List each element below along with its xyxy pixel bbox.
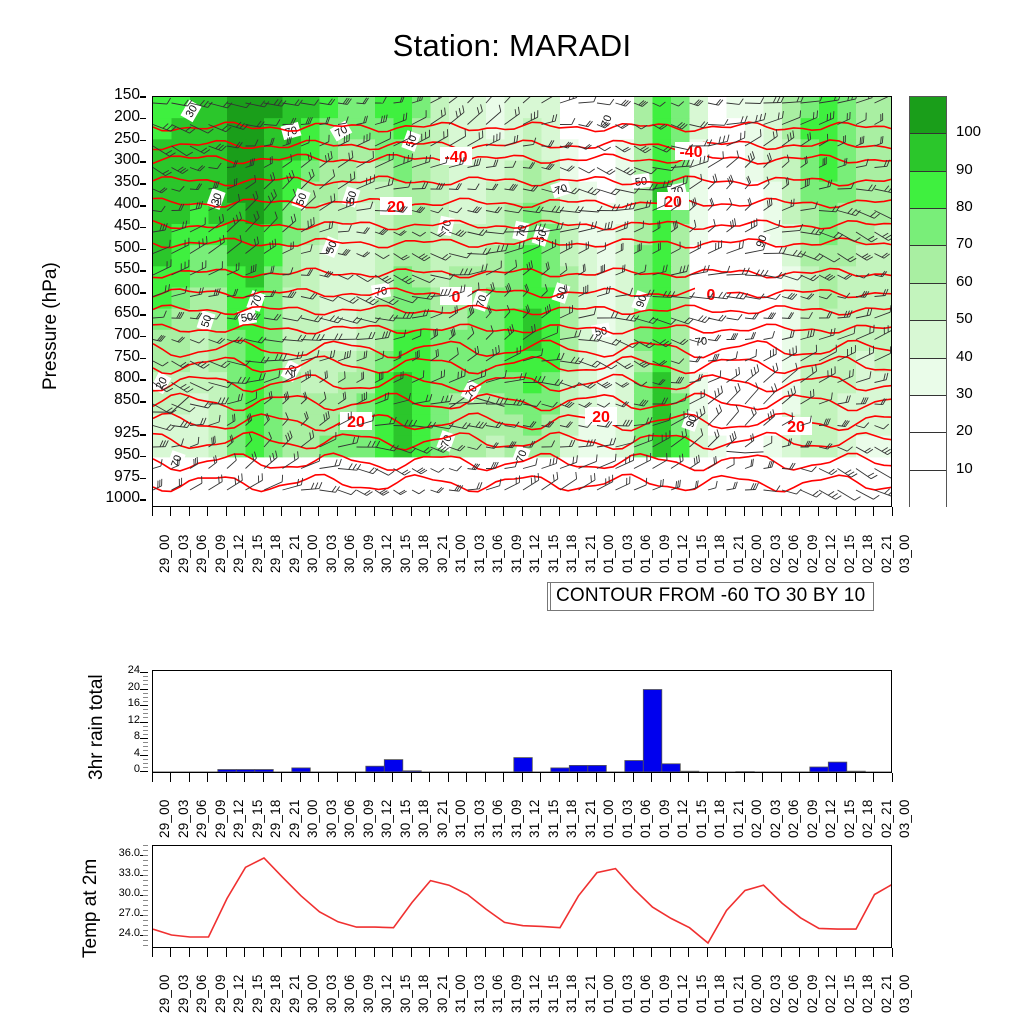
rain-xaxis-label: 02_00 (749, 799, 764, 838)
temp-minor-tick (143, 945, 148, 946)
rain-xaxis-label: 30_15 (398, 799, 413, 838)
temp-xaxis-label: 30_12 (379, 974, 394, 1013)
pressure-tick-label: 950 (114, 446, 140, 464)
colorbar-tick-label: 30 (956, 385, 973, 402)
pressure-tick (140, 336, 146, 338)
rain-xaxis-tick (596, 773, 597, 782)
pressure-tick-label: 250 (114, 130, 140, 148)
rain-xaxis-label: 02_21 (879, 799, 894, 838)
colorbar-cell[interactable] (910, 97, 946, 134)
main-xaxis-label: 01_21 (731, 534, 746, 573)
main-xaxis-tick (448, 507, 449, 516)
main-xaxis-tick (762, 507, 763, 516)
temp-xaxis-tick (392, 948, 393, 957)
rain-tick-label: 0 (134, 763, 140, 775)
rain-xaxis-label: 30_09 (361, 799, 376, 838)
main-xaxis-label: 30_00 (305, 534, 320, 573)
pressure-tick (140, 292, 146, 294)
pressure-tick-label: 650 (114, 304, 140, 322)
rain-minor-tick (143, 717, 148, 718)
rain-bar-chart[interactable] (152, 670, 892, 773)
main-xaxis-label: 02_03 (768, 534, 783, 573)
temp-xaxis-tick (152, 948, 153, 957)
rain-xaxis-tick (448, 773, 449, 782)
main-xaxis-tick (559, 507, 560, 516)
main-xaxis-tick (522, 507, 523, 516)
main-xaxis-tick (670, 507, 671, 516)
colorbar-cell[interactable] (910, 321, 946, 358)
temp-xaxis-tick (466, 948, 467, 957)
rain-xaxis-tick (522, 773, 523, 782)
temp-xaxis-label: 02_18 (860, 974, 875, 1013)
rain-xaxis-label: 01_21 (731, 799, 746, 838)
rain-xaxis-label: 29_21 (287, 799, 302, 838)
main-xaxis-label: 31_15 (546, 534, 561, 573)
rain-xaxis-tick (300, 773, 301, 782)
temp-xaxis-label: 31_21 (583, 974, 598, 1013)
temp-minor-tick (143, 920, 148, 921)
main-xaxis-tick (170, 507, 171, 516)
main-xaxis-tick (818, 507, 819, 516)
temp-xaxis-tick (263, 948, 264, 957)
rain-xaxis-label: 29_09 (213, 799, 228, 838)
temp-xaxis-label: 02_06 (786, 974, 801, 1013)
rain-bar (366, 766, 385, 772)
colorbar-cell[interactable] (910, 396, 946, 433)
pressure-tick (140, 434, 146, 436)
main-xaxis-label: 01_09 (657, 534, 672, 573)
temp-xaxis-tick (855, 948, 856, 957)
rain-xaxis-tick (411, 773, 412, 782)
temp-canvas (153, 846, 892, 948)
svg-text:20: 20 (347, 414, 365, 431)
main-xaxis-tick (226, 507, 227, 516)
pressure-tick-label: 300 (114, 151, 140, 169)
rain-xaxis-label: 30_06 (342, 799, 357, 838)
rain-xaxis-label: 30_18 (416, 799, 431, 838)
pressure-tick (140, 205, 146, 207)
rain-xaxis-label: 30_12 (379, 799, 394, 838)
rain-bar (588, 765, 607, 772)
rain-xaxis-tick (892, 773, 893, 782)
colorbar-tick-label: 10 (956, 460, 973, 477)
rain-bar (625, 761, 644, 773)
temp-xaxis-label: 29_12 (231, 974, 246, 1013)
temp-minor-tick (143, 875, 148, 876)
temp-xaxis-label: 29_06 (194, 974, 209, 1013)
rain-minor-tick (143, 742, 148, 743)
rain-tick (140, 705, 148, 706)
rain-xaxis-label: 30_03 (324, 799, 339, 838)
rain-xaxis-label: 02_06 (786, 799, 801, 838)
temp-xaxis-tick (633, 948, 634, 957)
colorbar-cell[interactable] (910, 471, 946, 508)
rain-xaxis-label: 30_21 (435, 799, 450, 838)
temp-xaxis-tick (522, 948, 523, 957)
pressure-tick (140, 456, 146, 458)
rain-xaxis-tick (818, 773, 819, 782)
rain-xaxis-tick (355, 773, 356, 782)
rain-xaxis-tick (318, 773, 319, 782)
main-xaxis-label: 30_21 (435, 534, 450, 573)
rain-tick (140, 672, 148, 673)
pressure-tick (140, 227, 146, 229)
contour-info-box: CONTOUR FROM -60 TO 30 BY 10 (547, 582, 874, 611)
temp-minor-tick (143, 925, 148, 926)
temp-xaxis-label: 31_09 (509, 974, 524, 1013)
main-xaxis-tick (466, 507, 467, 516)
pressure-tick-label: 850 (114, 391, 140, 409)
rain-tick-label: 16 (128, 697, 140, 709)
temp-xaxis-label: 29_00 (157, 974, 172, 1013)
rain-xaxis-label: 31_15 (546, 799, 561, 838)
temp-xaxis-label: 30_06 (342, 974, 357, 1013)
temp-xaxis-label: 30_00 (305, 974, 320, 1013)
rain-tick (140, 689, 148, 690)
main-xaxis-label: 29_18 (268, 534, 283, 573)
rain-xaxis-label: 31_12 (527, 799, 542, 838)
humidity-shading (153, 97, 892, 457)
colorbar-cell[interactable] (910, 209, 946, 246)
temp-xaxis-tick (836, 948, 837, 957)
main-xaxis-label: 29_06 (194, 534, 209, 573)
rain-tick (140, 722, 148, 723)
rain-xaxis-tick (744, 773, 745, 782)
rain-xaxis-tick (374, 773, 375, 782)
temp-minor-tick (143, 895, 148, 896)
pressure-tick (140, 358, 146, 360)
rain-xaxis-label: 02_12 (823, 799, 838, 838)
pressure-tick (140, 314, 146, 316)
main-xaxis-tick (836, 507, 837, 516)
temp-xaxis-label: 30_15 (398, 974, 413, 1013)
rain-xaxis-tick (152, 773, 153, 782)
main-xaxis-tick (337, 507, 338, 516)
main-xaxis-tick (374, 507, 375, 516)
main-xaxis-label: 29_00 (157, 534, 172, 573)
rain-minor-tick (143, 726, 148, 727)
pressure-tick-label: 500 (114, 239, 140, 257)
rain-xaxis-tick (189, 773, 190, 782)
rain-xaxis-tick (688, 773, 689, 782)
colorbar-cell[interactable] (910, 246, 946, 283)
temp-xaxis-label: 03_00 (897, 974, 912, 1013)
temp-minor-tick (143, 930, 148, 931)
temp-xaxis-label: 31_00 (453, 974, 468, 1013)
rain-tick-label: 8 (134, 730, 140, 742)
rain-xaxis-tick (651, 773, 652, 782)
temp-xaxis-tick (281, 948, 282, 957)
temp-xaxis-label: 31_18 (564, 974, 579, 1013)
temp-xaxis-label: 29_21 (287, 974, 302, 1013)
main-xaxis-tick (411, 507, 412, 516)
rain-minor-tick (143, 676, 148, 677)
temp-xaxis-label: 31_12 (527, 974, 542, 1013)
main-xaxis-label: 29_12 (231, 534, 246, 573)
rain-bar (384, 760, 403, 772)
rain-xaxis-label: 29_03 (176, 799, 191, 838)
main-xaxis-tick (781, 507, 782, 516)
main-xaxis-label: 30_18 (416, 534, 431, 573)
pressure-tick-label: 150 (114, 86, 140, 104)
rain-xaxis-tick (281, 773, 282, 782)
temp-xaxis-label: 01_12 (675, 974, 690, 1013)
colorbar-tick-label: 50 (956, 310, 973, 327)
main-xaxis-label: 02_09 (805, 534, 820, 573)
temp-xaxis-label: 29_09 (213, 974, 228, 1013)
rain-bar (292, 768, 311, 772)
main-xaxis-tick (892, 507, 893, 516)
temp-xaxis-label: 02_03 (768, 974, 783, 1013)
pressure-tick-label: 600 (114, 282, 140, 300)
rain-xaxis-label: 03_00 (897, 799, 912, 838)
main-xaxis-tick (244, 507, 245, 516)
rain-xaxis-label: 31_03 (472, 799, 487, 838)
main-xaxis-tick (873, 507, 874, 516)
rain-minor-tick (143, 767, 148, 768)
rain-tick (140, 738, 148, 739)
rain-minor-tick (143, 746, 148, 747)
rain-xaxis-label: 02_18 (860, 799, 875, 838)
main-xaxis-label: 01_03 (620, 534, 635, 573)
colorbar-cell[interactable] (910, 172, 946, 209)
main-xaxis-tick (263, 507, 264, 516)
rain-canvas (153, 671, 892, 773)
temp-tick-label: 24.0 (119, 927, 140, 939)
temp-minor-tick (143, 860, 148, 861)
main-xaxis-label: 29_15 (250, 534, 265, 573)
temp-minor-tick (143, 880, 148, 881)
main-xaxis-tick (207, 507, 208, 516)
pressure-tick-label: 200 (114, 108, 140, 126)
main-xaxis-tick (744, 507, 745, 516)
main-xaxis-label: 01_12 (675, 534, 690, 573)
rain-minor-tick (143, 701, 148, 702)
rain-xaxis-tick (559, 773, 560, 782)
temp-tick-label: 33.0 (119, 867, 140, 879)
rain-bar (514, 758, 533, 772)
rain-minor-tick (143, 697, 148, 698)
temp-xaxis-tick (226, 948, 227, 957)
temp-xaxis-tick (892, 948, 893, 957)
temp-xaxis-tick (614, 948, 615, 957)
temp-xaxis-label: 02_12 (823, 974, 838, 1013)
rain-xaxis-label: 01_09 (657, 799, 672, 838)
main-panel-yaxis: 1502002503003504004505005506006507007508… (60, 96, 146, 507)
colorbar-tick-label: 40 (956, 348, 973, 365)
main-xaxis-label: 02_21 (879, 534, 894, 573)
main-xaxis-tick (392, 507, 393, 516)
temp-xaxis-tick (485, 948, 486, 957)
rain-xaxis-tick (577, 773, 578, 782)
temp-xaxis-label: 02_21 (879, 974, 894, 1013)
rain-xaxis-label: 01_18 (712, 799, 727, 838)
temp-xaxis-tick (762, 948, 763, 957)
temp-xaxis-label: 30_21 (435, 974, 450, 1013)
temp-xaxis-label: 01_06 (638, 974, 653, 1013)
pressure-tick-label: 550 (114, 260, 140, 278)
temp-xaxis-tick (300, 948, 301, 957)
temp-xaxis-tick (651, 948, 652, 957)
pressure-tick (140, 499, 146, 501)
temp-minor-tick (143, 915, 148, 916)
colorbar-cell[interactable] (910, 284, 946, 321)
rain-xaxis-tick (244, 773, 245, 782)
main-xaxis-tick (540, 507, 541, 516)
main-xaxis-tick (725, 507, 726, 516)
time-height-cross-section[interactable]: 3030305030705070505070707070707070709050… (152, 96, 892, 507)
rain-tick-label: 12 (128, 714, 140, 726)
rain-bar (551, 768, 570, 772)
main-xaxis-label: 29_03 (176, 534, 191, 573)
pressure-tick (140, 140, 146, 142)
main-xaxis-tick (429, 507, 430, 516)
rain-xaxis-label: 29_18 (268, 799, 283, 838)
main-xaxis-label: 31_21 (583, 534, 598, 573)
temp-xaxis-tick (781, 948, 782, 957)
pressure-tick-label: 925 (114, 424, 140, 442)
main-xaxis-tick (281, 507, 282, 516)
temp-minor-tick (143, 900, 148, 901)
pressure-tick-label: 400 (114, 195, 140, 213)
humidity-colorbar[interactable] (909, 96, 947, 507)
rain-minor-tick (143, 709, 148, 710)
svg-text:20: 20 (664, 194, 682, 211)
rain-xaxis-tick (781, 773, 782, 782)
main-xaxis-label: 03_00 (897, 534, 912, 573)
svg-text:0: 0 (452, 289, 461, 306)
pressure-tick (140, 249, 146, 251)
temp-xaxis-tick (189, 948, 190, 957)
temp-xaxis-tick (670, 948, 671, 957)
rain-xaxis-tick (614, 773, 615, 782)
temp-xaxis-tick (448, 948, 449, 957)
rain-minor-tick (143, 763, 148, 764)
rain-xaxis-label: 31_00 (453, 799, 468, 838)
rain-tick-label: 20 (128, 681, 140, 693)
temp-panel-yaxis: 24.027.030.033.036.0 (90, 845, 148, 948)
temp-xaxis-label: 29_15 (250, 974, 265, 1013)
temp-xaxis-label: 31_06 (490, 974, 505, 1013)
rain-minor-tick (143, 684, 148, 685)
pressure-tick-label: 700 (114, 326, 140, 344)
rain-xaxis-tick (799, 773, 800, 782)
pressure-tick (140, 96, 146, 98)
rain-xaxis-tick (540, 773, 541, 782)
temp-xaxis-label: 01_00 (601, 974, 616, 1013)
temp-xaxis-tick (503, 948, 504, 957)
temp-xaxis-label: 30_09 (361, 974, 376, 1013)
temp-tick-label: 27.0 (119, 907, 140, 919)
rain-minor-tick (143, 730, 148, 731)
page-title: Station: MARADI (0, 28, 1024, 64)
rain-xaxis-tick (263, 773, 264, 782)
rain-xaxis-tick (226, 773, 227, 782)
temp-xaxis-tick (429, 948, 430, 957)
temp-xaxis-label: 02_09 (805, 974, 820, 1013)
temp-xaxis-label: 01_03 (620, 974, 635, 1013)
main-xaxis-label: 01_06 (638, 534, 653, 573)
rain-xaxis-tick (429, 773, 430, 782)
temp-xaxis-tick (596, 948, 597, 957)
temperature-line-chart[interactable] (152, 845, 892, 948)
rain-xaxis-tick (633, 773, 634, 782)
rain-xaxis-label: 31_06 (490, 799, 505, 838)
temp-xaxis-tick (411, 948, 412, 957)
main-xaxis-tick (189, 507, 190, 516)
temp-xaxis-tick (337, 948, 338, 957)
pressure-tick (140, 270, 146, 272)
rain-xaxis-label: 02_15 (842, 799, 857, 838)
main-xaxis-tick (577, 507, 578, 516)
colorbar-cell[interactable] (910, 134, 946, 171)
pressure-tick-label: 450 (114, 217, 140, 235)
main-xaxis-label: 31_12 (527, 534, 542, 573)
pressure-tick-label: 750 (114, 348, 140, 366)
temp-xaxis-label: 31_03 (472, 974, 487, 1013)
main-xaxis-label: 29_21 (287, 534, 302, 573)
colorbar-cell[interactable] (910, 359, 946, 396)
temp-xaxis-tick (318, 948, 319, 957)
rain-panel-yaxis: 04812162024 (96, 670, 148, 773)
temp-xaxis-tick (818, 948, 819, 957)
temp-xaxis-tick (374, 948, 375, 957)
rain-tick (140, 755, 148, 756)
main-xaxis-tick (651, 507, 652, 516)
rain-xaxis-label: 31_09 (509, 799, 524, 838)
rain-xaxis-tick (337, 773, 338, 782)
rain-minor-tick (143, 680, 148, 681)
temp-minor-tick (143, 870, 148, 871)
rain-minor-tick (143, 693, 148, 694)
main-xaxis-tick (855, 507, 856, 516)
main-xaxis-label: 31_18 (564, 534, 579, 573)
rain-xaxis-tick (725, 773, 726, 782)
pressure-tick-label: 350 (114, 173, 140, 191)
rain-xaxis-tick (855, 773, 856, 782)
main-xaxis-label: 01_00 (601, 534, 616, 573)
colorbar-cell[interactable] (910, 433, 946, 470)
temp-minor-tick (143, 935, 148, 936)
main-xaxis-label: 31_03 (472, 534, 487, 573)
rain-minor-tick (143, 750, 148, 751)
rain-xaxis-label: 01_06 (638, 799, 653, 838)
rain-xaxis-label: 02_03 (768, 799, 783, 838)
main-xaxis-label: 30_12 (379, 534, 394, 573)
temp-xaxis-tick (170, 948, 171, 957)
rain-xaxis-tick (466, 773, 467, 782)
cross-section-canvas: 3030305030705070505070707070707070709050… (153, 97, 892, 507)
main-xaxis-tick (596, 507, 597, 516)
rain-xaxis-label: 02_09 (805, 799, 820, 838)
rain-xaxis-tick (670, 773, 671, 782)
main-xaxis-label: 02_15 (842, 534, 857, 573)
main-xaxis-tick (355, 507, 356, 516)
rain-xaxis-tick (762, 773, 763, 782)
rain-xaxis-label: 29_12 (231, 799, 246, 838)
rain-xaxis-label: 01_03 (620, 799, 635, 838)
temp-xaxis-tick (540, 948, 541, 957)
temp-minor-tick (143, 865, 148, 866)
main-xaxis-label: 02_18 (860, 534, 875, 573)
temp-xaxis-label: 30_18 (416, 974, 431, 1013)
temp-xaxis-label: 29_03 (176, 974, 191, 1013)
temp-xaxis-label: 29_18 (268, 974, 283, 1013)
pressure-tick (140, 118, 146, 120)
pressure-tick (140, 161, 146, 163)
rain-bar (643, 690, 662, 773)
rain-xaxis-tick (503, 773, 504, 782)
